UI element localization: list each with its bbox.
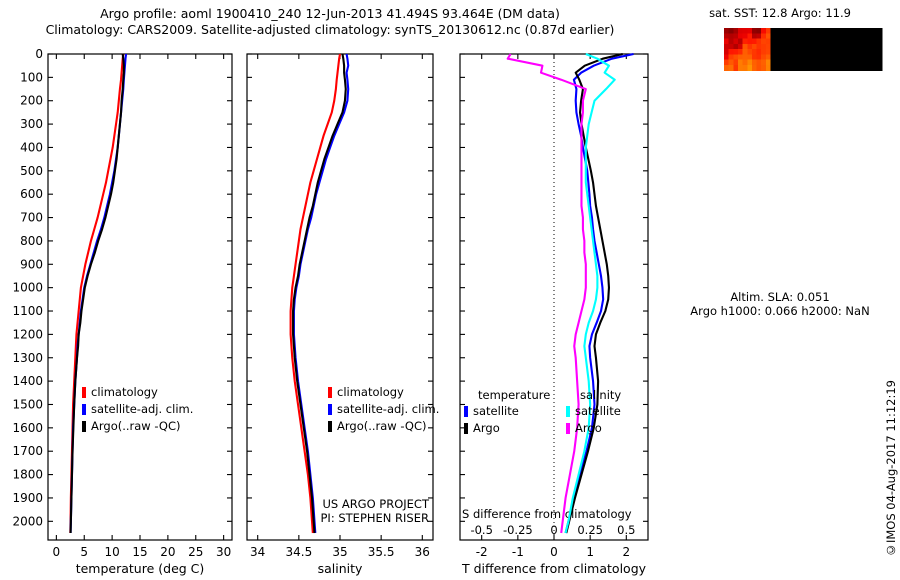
legend-label: satellite-adj. clim. bbox=[91, 402, 193, 416]
t-difference-tick-label: 2 bbox=[622, 545, 630, 559]
depth-tick-label: 1300 bbox=[12, 351, 43, 365]
s-axis-label: S difference from climatology bbox=[462, 507, 632, 521]
s-difference-tick-label: -0.5 bbox=[470, 523, 492, 537]
temperature-tick-label: 25 bbox=[188, 545, 203, 559]
legend-swatch bbox=[464, 406, 468, 417]
depth-tick-label: 200 bbox=[20, 94, 43, 108]
plot-frame bbox=[48, 54, 232, 540]
legend-swatch bbox=[566, 406, 570, 417]
legend-swatch bbox=[82, 404, 86, 415]
legend-swatch bbox=[464, 423, 468, 434]
legend-swatch bbox=[82, 421, 86, 432]
legend-label: climatology bbox=[337, 385, 404, 399]
legend-label: Argo(..raw -QC) bbox=[337, 419, 427, 433]
legend-label: Argo bbox=[473, 421, 500, 435]
sst-map-panel[interactable] bbox=[660, 22, 900, 290]
depth-tick-label: 700 bbox=[20, 211, 43, 225]
sst-map-header-text: sat. SST: 12.8 Argo: 11.9 bbox=[660, 6, 900, 20]
legend-label: satellite-adj. clim. bbox=[337, 402, 439, 416]
imos-credit: ©IMOS 04-Aug-2017 11:12:19 bbox=[884, 380, 898, 557]
depth-tick-label: 2000 bbox=[12, 514, 43, 528]
temperature-tick-label: 10 bbox=[104, 545, 119, 559]
depth-tick-label: 1900 bbox=[12, 491, 43, 505]
temperature-tick-label: 30 bbox=[216, 545, 231, 559]
temperature-tick-label: 0 bbox=[53, 545, 61, 559]
s-difference-tick-label: 0.5 bbox=[617, 523, 635, 537]
t-difference-tick-label: 1 bbox=[586, 545, 594, 559]
t-difference-tick-label: -1 bbox=[512, 545, 524, 559]
depth-tick-label: 1000 bbox=[12, 281, 43, 295]
sst-map-header: sat. SST: 12.8 Argo: 11.9 bbox=[660, 6, 900, 20]
legend-swatch bbox=[82, 387, 86, 398]
temperature-tick-label: 5 bbox=[80, 545, 88, 559]
depth-tick-label: 900 bbox=[20, 257, 43, 271]
difference-profile-panel: -2-1012-0.5-0.2500.250.5S difference fro… bbox=[448, 0, 673, 580]
legend-swatch bbox=[328, 404, 332, 415]
depth-tick-label: 800 bbox=[20, 234, 43, 248]
depth-tick-label: 500 bbox=[20, 164, 43, 178]
sla-map-header-line-2: Argo h1000: 0.066 h2000: NaN bbox=[660, 304, 900, 318]
sla-map-panel[interactable] bbox=[660, 320, 900, 578]
depth-tick-label: 400 bbox=[20, 140, 43, 154]
salinity-tick-label: 34 bbox=[250, 545, 265, 559]
legend-label: Argo(..raw -QC) bbox=[91, 419, 181, 433]
s-difference-tick-label: 0.25 bbox=[577, 523, 603, 537]
depth-tick-label: 1200 bbox=[12, 327, 43, 341]
depth-tick-label: 100 bbox=[20, 70, 43, 84]
depth-tick-label: 1700 bbox=[12, 444, 43, 458]
depth-tick-label: 300 bbox=[20, 117, 43, 131]
t-difference-tick-label: 0 bbox=[550, 545, 558, 559]
salinity-tick-label: 35.5 bbox=[368, 545, 395, 559]
x-axis-label: salinity bbox=[318, 561, 363, 576]
s-difference-tick-label: -0.25 bbox=[503, 523, 533, 537]
salinity-tick-label: 36 bbox=[415, 545, 430, 559]
sla-map-header-line-1: Altim. SLA: 0.051 bbox=[660, 290, 900, 304]
legend-label: Argo bbox=[575, 421, 602, 435]
salinity-profile-panel: 3434.53535.536salinityclimatologysatelli… bbox=[233, 0, 463, 580]
temperature-tick-label: 20 bbox=[160, 545, 175, 559]
temperature-profile-panel: 0100200300400500600700800900100011001200… bbox=[0, 0, 245, 580]
depth-tick-label: 0 bbox=[35, 47, 43, 61]
plot-frame bbox=[247, 54, 433, 540]
depth-tick-label: 600 bbox=[20, 187, 43, 201]
depth-tick-label: 1800 bbox=[12, 468, 43, 482]
depth-tick-label: 1600 bbox=[12, 421, 43, 435]
legend-header-temperature: temperature bbox=[478, 388, 550, 402]
legend-swatch bbox=[566, 423, 570, 434]
legend-label: satellite bbox=[575, 404, 621, 418]
legend-label: climatology bbox=[91, 385, 158, 399]
depth-tick-label: 1100 bbox=[12, 304, 43, 318]
salinity-tick-label: 35 bbox=[332, 545, 347, 559]
legend-header-salinity: salinity bbox=[580, 388, 621, 402]
legend-label: satellite bbox=[473, 404, 519, 418]
t-difference-tick-label: -2 bbox=[476, 545, 488, 559]
project-line-1: US ARGO PROJECT bbox=[322, 497, 430, 511]
temperature-tick-label: 15 bbox=[132, 545, 147, 559]
legend-swatch bbox=[328, 387, 332, 398]
legend-swatch bbox=[328, 421, 332, 432]
depth-tick-label: 1500 bbox=[12, 397, 43, 411]
project-line-2: PI: STEPHEN RISER bbox=[321, 511, 430, 525]
t-axis-label: T difference from climatology bbox=[461, 561, 647, 576]
x-axis-label: temperature (deg C) bbox=[76, 561, 205, 576]
sla-map-header: Altim. SLA: 0.051 Argo h1000: 0.066 h200… bbox=[660, 290, 900, 318]
sst-raster bbox=[724, 28, 883, 71]
salinity-tick-label: 34.5 bbox=[285, 545, 312, 559]
depth-tick-label: 1400 bbox=[12, 374, 43, 388]
